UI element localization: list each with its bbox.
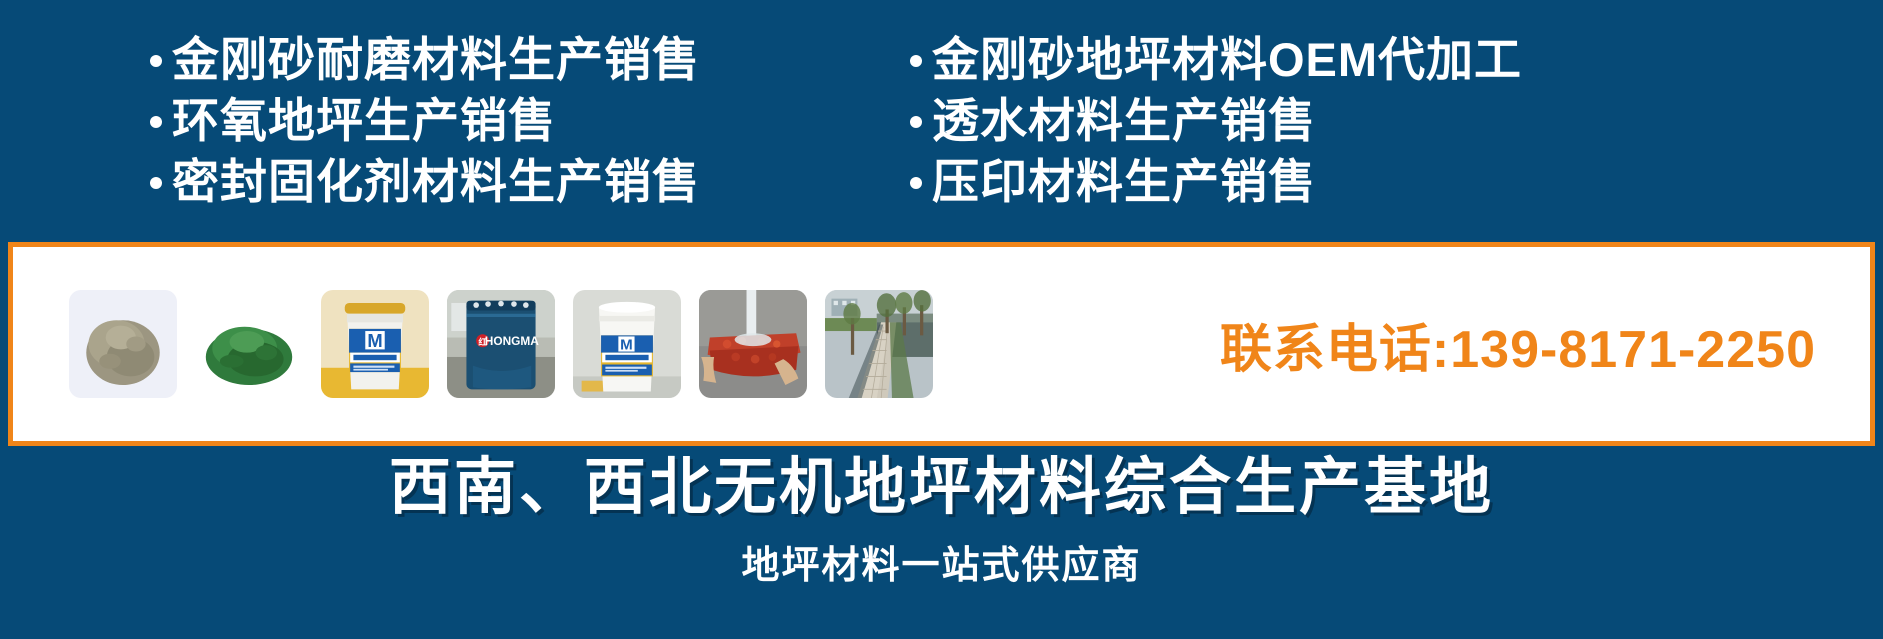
feature-item: 金刚砂耐磨材料生产销售 (150, 30, 870, 88)
feature-label: 压印材料生产销售 (932, 158, 1316, 205)
contact-phone[interactable]: 联系电话:139-8171-2250 (1220, 307, 1856, 382)
thumb-gray-abrasive-powder[interactable] (69, 290, 177, 398)
feature-column-right: 金刚砂地坪材料OEM代加工 透水材料生产销售 压印材料生产销售 (870, 30, 1522, 230)
thumb-permeable-concrete-sample[interactable] (699, 290, 807, 398)
thumb-stamped-concrete-path[interactable] (825, 290, 933, 398)
product-thumbnail-list: M (27, 290, 933, 398)
bullet-dot-icon (910, 116, 922, 128)
thumb-hongma-drum[interactable]: 红 HONGMA (447, 290, 555, 398)
svg-text:M: M (367, 330, 382, 351)
feature-item: 环氧地坪生产销售 (150, 91, 870, 149)
promotional-banner: 金刚砂耐磨材料生产销售 环氧地坪生产销售 密封固化剂材料生产销售 金刚砂地坪材料… (0, 0, 1883, 639)
feature-label: 密封固化剂材料生产销售 (172, 158, 700, 205)
feature-label: 透水材料生产销售 (932, 97, 1316, 144)
feature-label: 金刚砂地坪材料OEM代加工 (932, 36, 1522, 83)
footer-headline-block: 西南、西北无机地坪材料综合生产基地 地坪材料一站式供应商 (0, 455, 1883, 589)
feature-item: 压印材料生产销售 (910, 152, 1522, 210)
svg-text:M: M (620, 336, 633, 353)
bullet-dot-icon (910, 177, 922, 189)
svg-text:HONGMA: HONGMA (485, 334, 540, 348)
bullet-dot-icon (150, 55, 162, 67)
bullet-dot-icon (910, 55, 922, 67)
bullet-dot-icon (150, 177, 162, 189)
feature-label: 金刚砂耐磨材料生产销售 (172, 36, 700, 83)
subheadline: 地坪材料一站式供应商 (0, 534, 1883, 589)
feature-item: 金刚砂地坪材料OEM代加工 (910, 30, 1522, 88)
thumb-green-abrasive-powder[interactable] (195, 290, 303, 398)
feature-column-left: 金刚砂耐磨材料生产销售 环氧地坪生产销售 密封固化剂材料生产销售 (0, 30, 870, 230)
headline: 西南、西北无机地坪材料综合生产基地 (0, 455, 1883, 520)
thumb-sealer-bucket[interactable]: M (321, 290, 429, 398)
product-strip-panel: M (8, 242, 1875, 446)
feature-item: 密封固化剂材料生产销售 (150, 152, 870, 210)
feature-lists: 金刚砂耐磨材料生产销售 环氧地坪生产销售 密封固化剂材料生产销售 金刚砂地坪材料… (0, 30, 1883, 230)
thumb-epoxy-coating-bucket[interactable]: M (573, 290, 681, 398)
bullet-dot-icon (150, 116, 162, 128)
feature-label: 环氧地坪生产销售 (172, 97, 556, 144)
feature-item: 透水材料生产销售 (910, 91, 1522, 149)
